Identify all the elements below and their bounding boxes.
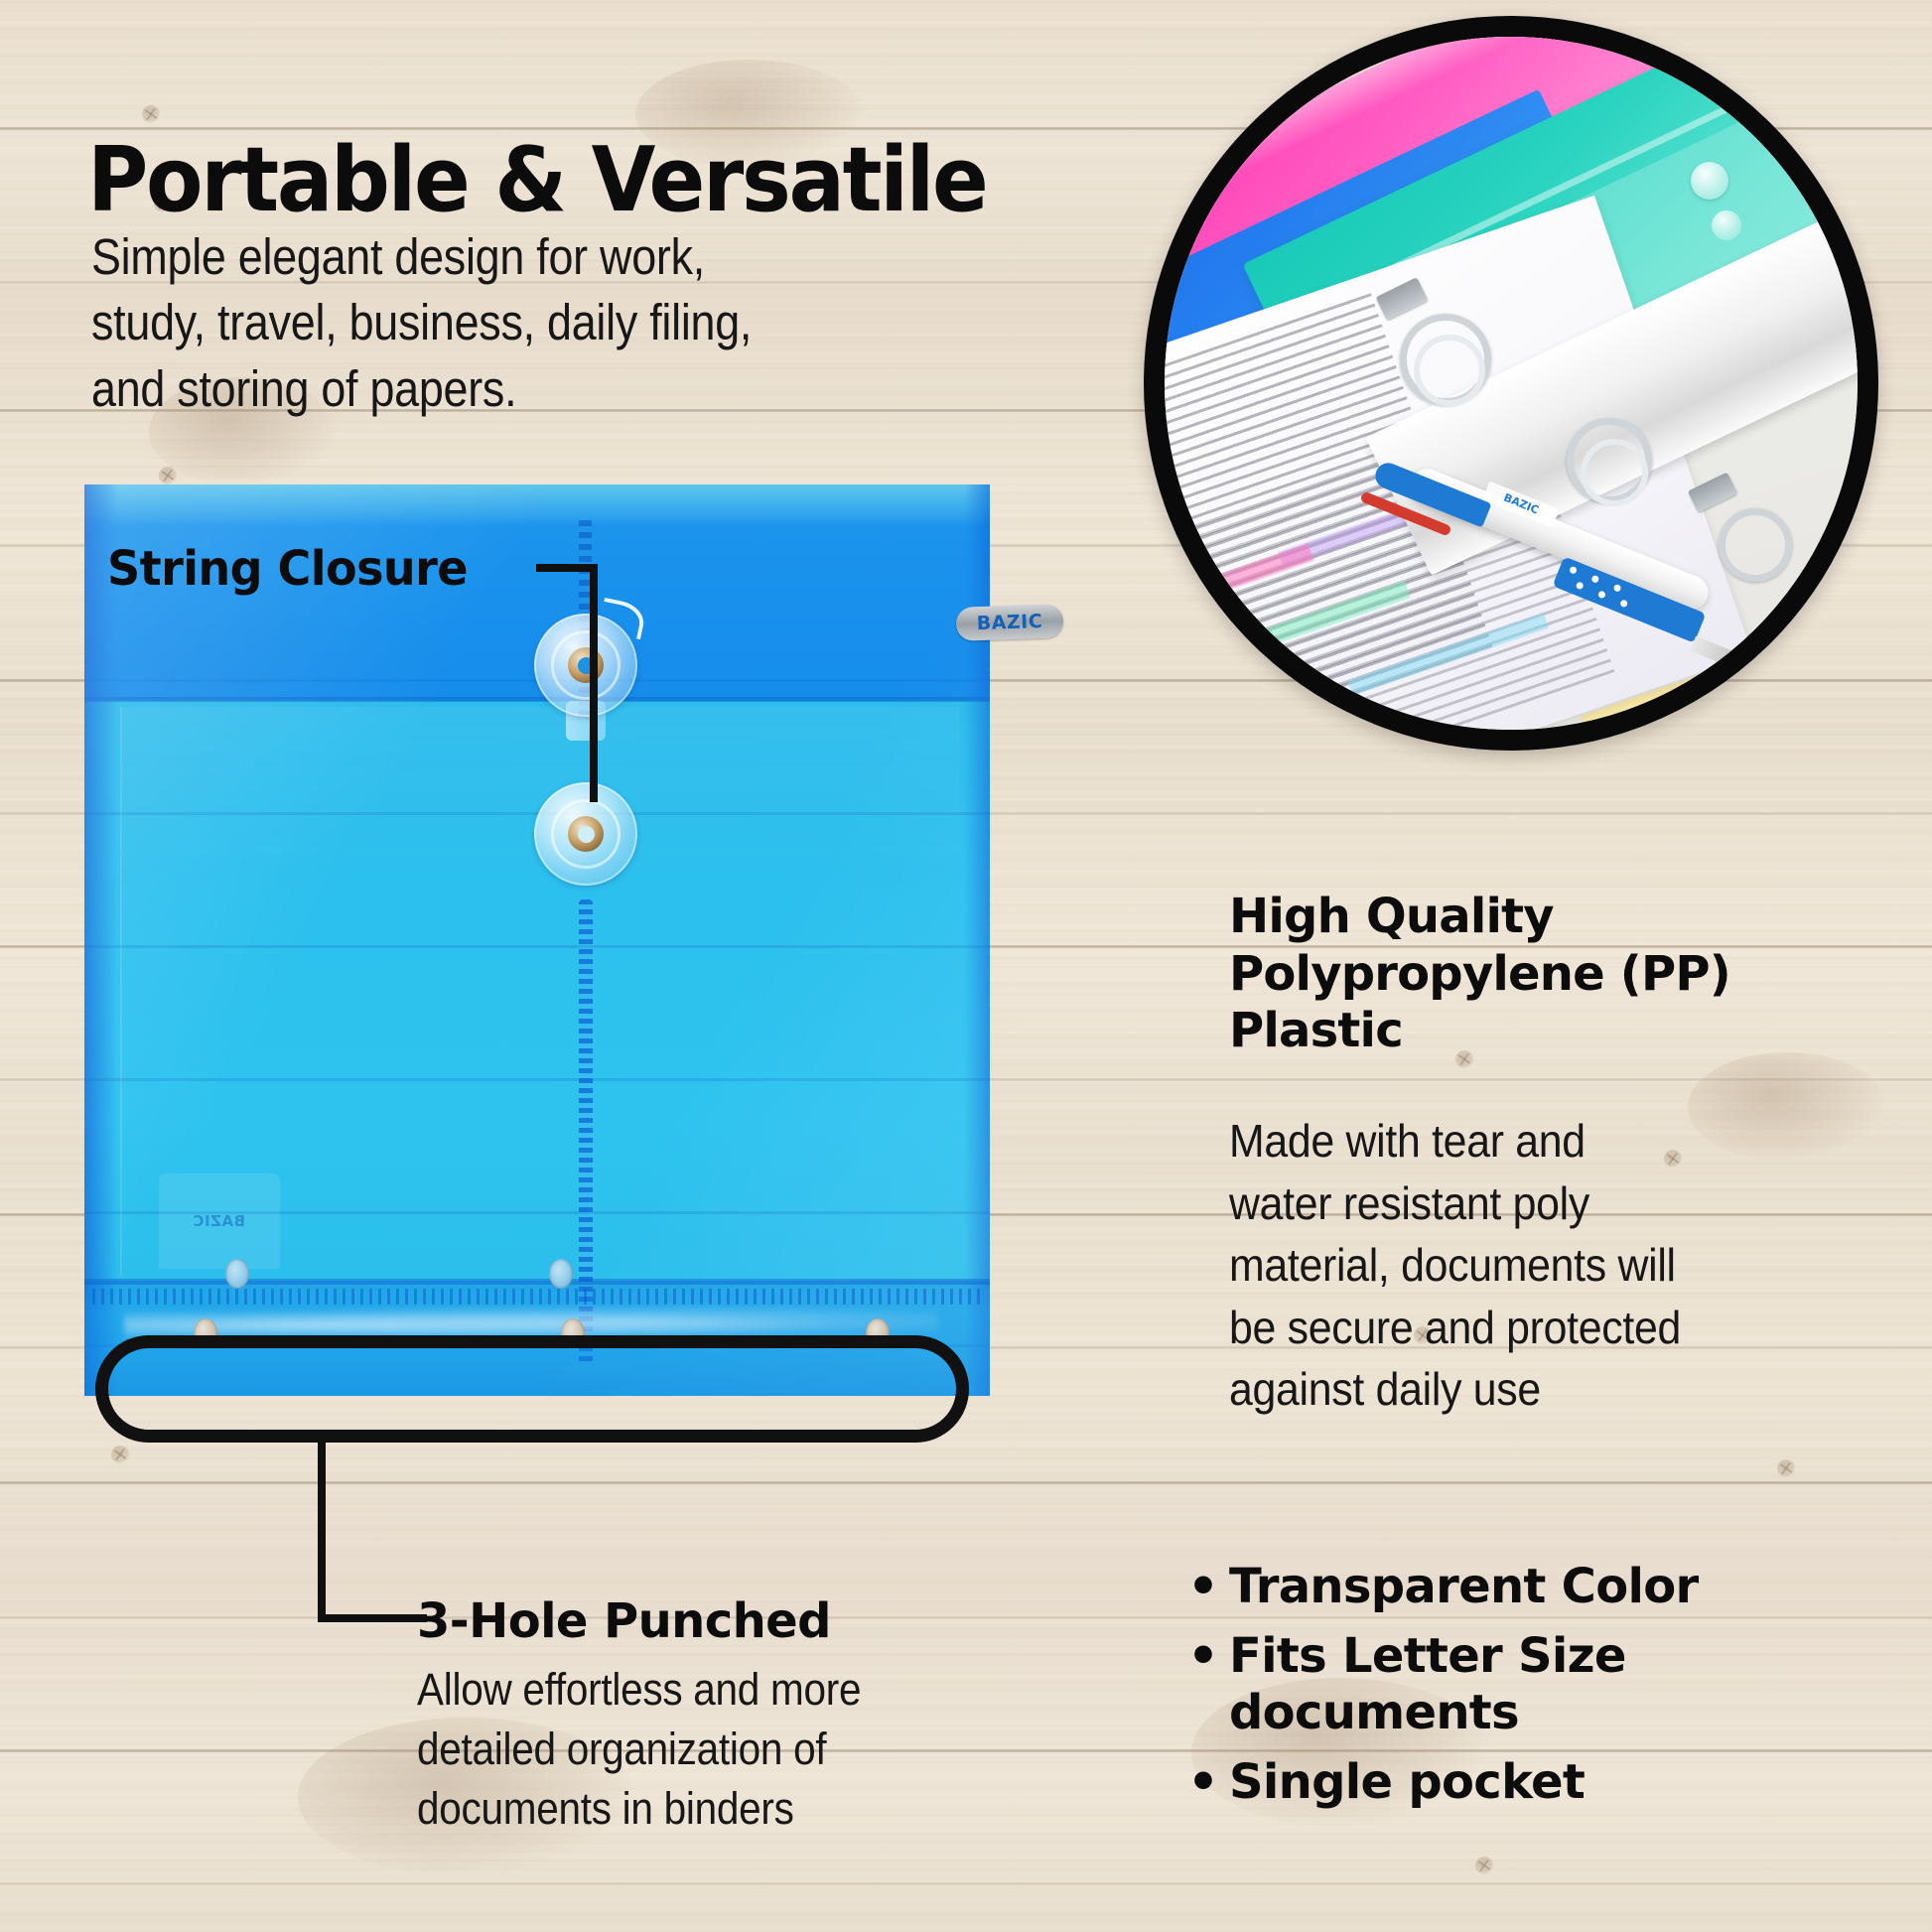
punch-hole-top	[549, 1259, 573, 1289]
feature-heading-line: Plastic	[1229, 1003, 1864, 1060]
callout-body-line: Allow effortless and more	[417, 1660, 861, 1720]
screw-head-icon	[142, 105, 160, 123]
bazic-logo-text: BAZIC	[976, 611, 1042, 634]
inner-label-text: BAZIC	[193, 1212, 245, 1230]
feature-body-line: Made with tear and	[1229, 1110, 1820, 1173]
subtitle-line: and storing of papers.	[91, 356, 752, 422]
photo-binder-ring-2-inner	[1581, 439, 1648, 506]
leader-line-three-hole	[260, 1442, 439, 1630]
list-item: Transparent Color	[1187, 1559, 1863, 1616]
feature-body-line: be secure and protected	[1229, 1297, 1820, 1359]
photo-teal-closure-button	[1691, 162, 1728, 200]
feature-body-line: water resistant poly	[1229, 1173, 1820, 1235]
feature-body-line: material, documents will	[1229, 1234, 1820, 1297]
screw-head-icon	[1475, 1857, 1493, 1874]
three-hole-highlight-ring	[95, 1335, 969, 1443]
punch-hole-top	[225, 1259, 249, 1289]
callout-label-string-closure: String Closure	[107, 541, 468, 597]
subtitle-line: study, travel, business, daily filing,	[91, 290, 752, 355]
photo-binder-ring-3	[1719, 508, 1792, 582]
photo-teal-closure-button-2	[1712, 210, 1741, 240]
feature-body-line: against daily use	[1229, 1358, 1820, 1421]
screw-head-icon	[111, 1446, 129, 1463]
list-item: Fits Letter Size documents	[1187, 1628, 1863, 1742]
callout-body-line: detailed organization of	[417, 1720, 861, 1779]
feature-heading-line: Polypropylene (PP)	[1229, 946, 1864, 1004]
plank-seam	[0, 1882, 1932, 1886]
screw-head-icon	[1777, 1459, 1795, 1477]
feature-heading-line: High Quality	[1229, 889, 1864, 946]
page-title: Portable & Versatile	[87, 135, 986, 226]
list-item: Single pocket	[1187, 1754, 1863, 1812]
callout-label-three-hole: 3-Hole Punched	[417, 1593, 831, 1649]
callout-body-line: documents in binders	[417, 1779, 861, 1839]
feature-bullet-list: Transparent Color Fits Letter Size docum…	[1187, 1559, 1863, 1823]
screw-head-icon	[159, 467, 177, 484]
envelope-gusset-top-edge	[84, 1279, 990, 1285]
feature-body-polypropylene: Made with tear and water resistant poly …	[1229, 1110, 1820, 1421]
page-subtitle: Simple elegant design for work, study, t…	[91, 224, 752, 422]
envelope-gusset-stitching	[92, 1289, 982, 1305]
callout-body-three-hole: Allow effortless and more detailed organ…	[417, 1660, 861, 1839]
feature-heading-polypropylene: High Quality Polypropylene (PP) Plastic	[1229, 889, 1864, 1060]
closure-grommet-lower	[568, 816, 604, 852]
subtitle-line: Simple elegant design for work,	[91, 224, 752, 290]
bazic-logo-badge: BAZIC	[955, 604, 1063, 641]
inner-label: BAZIC	[159, 1173, 280, 1269]
photo-binder-ring-1-inner	[1414, 335, 1485, 406]
leader-line-string-closure	[536, 556, 655, 814]
product-photo-inset: BAZIC	[1144, 16, 1878, 751]
